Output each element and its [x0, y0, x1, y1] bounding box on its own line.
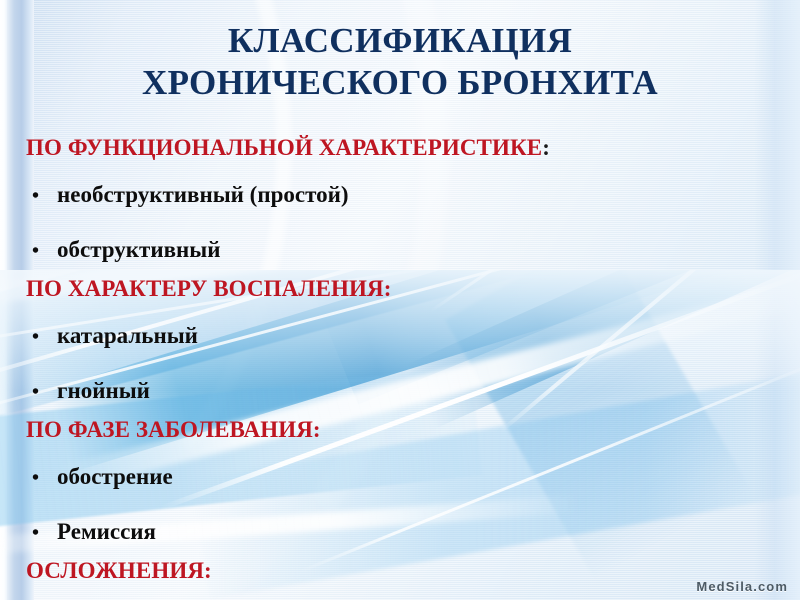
bullet-icon: • [26, 592, 57, 600]
slide-title-line-2: ХРОНИЧЕСКОГО БРОНХИТА [22, 62, 778, 104]
list-item: • катаральный [26, 308, 786, 363]
slide-title: КЛАССИФИКАЦИЯ ХРОНИЧЕСКОГО БРОНХИТА [0, 20, 800, 104]
list-item-label: катаральный [57, 308, 198, 363]
section-heading-complications-text: ОСЛОЖНЕНИЯ: [26, 558, 212, 583]
section-heading-functional: ПО ФУНКЦИОНАЛЬНОЙ ХАРАКТЕРИСТИКЕ: [26, 136, 786, 167]
section-heading-functional-text: ПО ФУНКЦИОНАЛЬНОЙ ХАРАКТЕРИСТИКЕ [26, 135, 542, 160]
list-item-label: гнойный [57, 363, 150, 418]
list-item: • гнойный [26, 363, 786, 418]
slide-body: ПО ФУНКЦИОНАЛЬНОЙ ХАРАКТЕРИСТИКЕ: • необ… [26, 136, 786, 600]
site-watermark: MedSila.com [696, 579, 788, 594]
list-item-label: обострение [57, 449, 173, 504]
section-heading-inflammation: ПО ХАРАКТЕРУ ВОСПАЛЕНИЯ: [26, 277, 786, 308]
list-item: • необструктивный (простой) [26, 167, 786, 222]
bullet-icon: • [26, 169, 57, 224]
bullet-icon: • [26, 310, 57, 365]
section-heading-phase: ПО ФАЗЕ ЗАБОЛЕВАНИЯ: [26, 418, 786, 449]
list-item: • обструктивный [26, 222, 786, 277]
list-item: • Ремиссия [26, 504, 786, 559]
list-item-label: Ремиссия [57, 504, 156, 559]
bullet-icon: • [26, 224, 57, 279]
slide-content: КЛАССИФИКАЦИЯ ХРОНИЧЕСКОГО БРОНХИТА ПО Ф… [0, 0, 800, 600]
list-item-label: дыхательная недостаточность (I, II, III … [57, 590, 556, 600]
section-heading-phase-text: ПО ФАЗЕ ЗАБОЛЕВАНИЯ: [26, 417, 321, 442]
bullet-icon: • [26, 506, 57, 561]
list-item-label: необструктивный (простой) [57, 167, 349, 222]
list-item: • дыхательная недостаточность (I, II, II… [26, 590, 786, 600]
slide-title-line-1: КЛАССИФИКАЦИЯ [22, 20, 778, 62]
list-item-label: обструктивный [57, 222, 220, 277]
section-heading-complications: ОСЛОЖНЕНИЯ: [26, 559, 786, 590]
section-heading-inflammation-text: ПО ХАРАКТЕРУ ВОСПАЛЕНИЯ: [26, 276, 391, 301]
section-heading-functional-colon: : [542, 135, 550, 160]
bullet-icon: • [26, 365, 57, 420]
list-item: • обострение [26, 449, 786, 504]
bullet-icon: • [26, 451, 57, 506]
presentation-slide: КЛАССИФИКАЦИЯ ХРОНИЧЕСКОГО БРОНХИТА ПО Ф… [0, 0, 800, 600]
